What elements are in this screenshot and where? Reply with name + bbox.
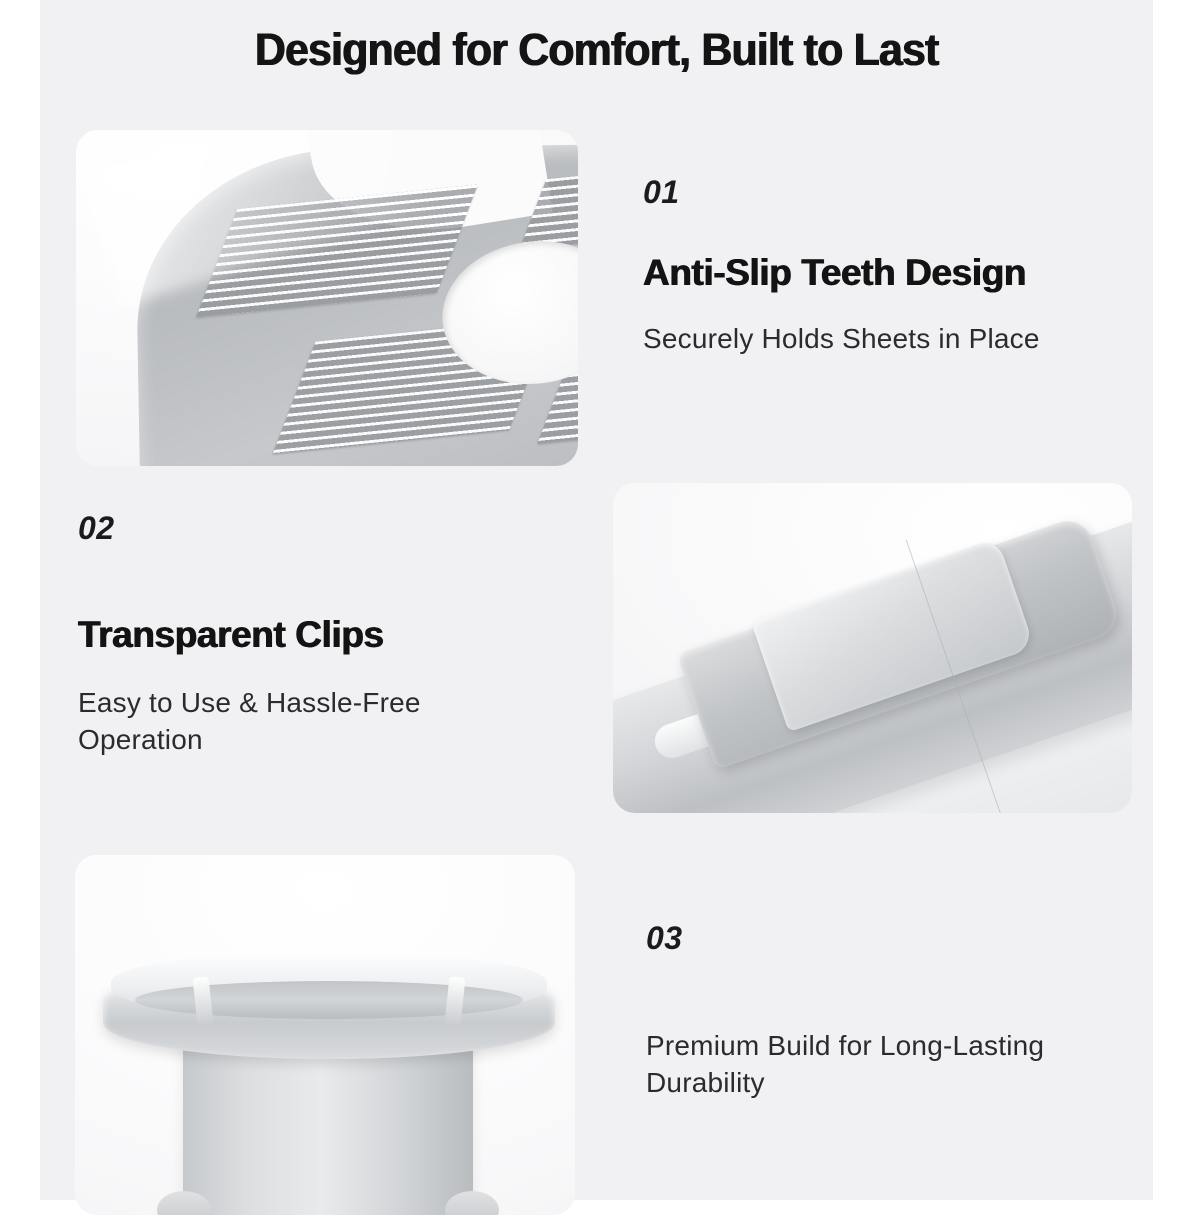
feature-description-03: Premium Build for Long-Lasting Durabilit…	[646, 1028, 1146, 1102]
page-title: Designed for Comfort, Built to Last	[255, 26, 939, 73]
photo-3-inner	[75, 855, 575, 1215]
photo-2-inner	[613, 483, 1132, 813]
feature-number-01: 01	[643, 176, 1143, 208]
feature-text-block-02: 02 Transparent Clips Easy to Use & Hassl…	[78, 512, 548, 759]
product-panel-shape	[134, 143, 578, 466]
infographic-page: Designed for Comfort, Built to Last 01 A…	[0, 0, 1200, 1200]
page-title-container: Designed for Comfort, Built to Last	[40, 26, 1153, 73]
feature-number-03: 03	[646, 922, 1146, 954]
feature-photo-transparent-clips	[613, 483, 1132, 813]
feature-number-02: 02	[78, 512, 548, 544]
photo-1-inner	[76, 130, 578, 466]
feature-text-block-03: 03 Premium Build for Long-Lasting Durabi…	[646, 922, 1146, 1102]
feature-description-02: Easy to Use & Hassle-Free Operation	[78, 685, 548, 759]
feature-photo-anti-slip-teeth	[76, 130, 578, 466]
feature-description-01: Securely Holds Sheets in Place	[643, 321, 1143, 358]
feature-heading-02: Transparent Clips	[78, 614, 548, 655]
feature-text-block-01: 01 Anti-Slip Teeth Design Securely Holds…	[643, 176, 1143, 358]
feature-photo-premium-build	[75, 855, 575, 1215]
feature-heading-01: Anti-Slip Teeth Design	[643, 252, 1143, 293]
